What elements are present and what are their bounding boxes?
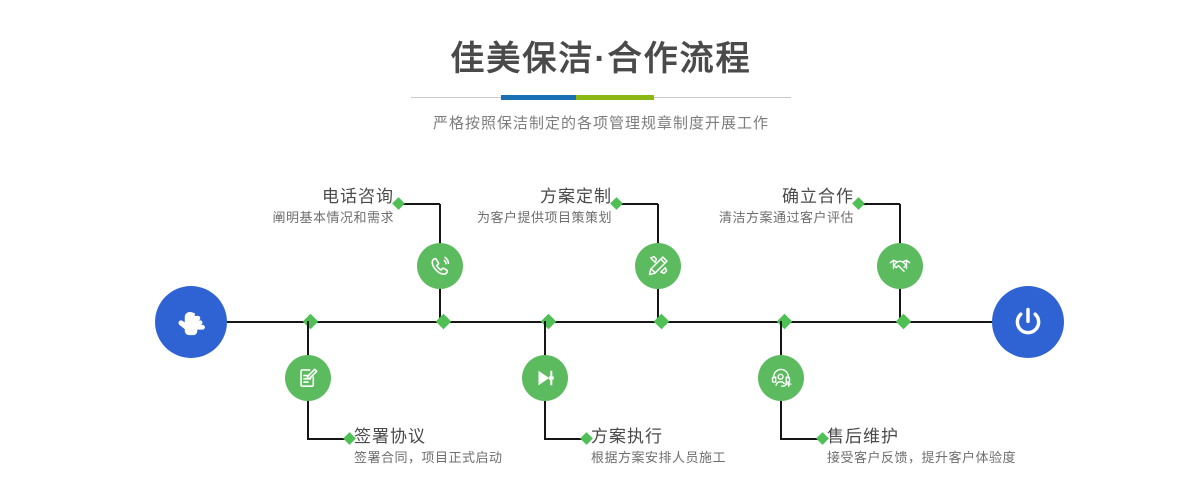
step-title: 确立合作 — [605, 186, 854, 208]
play-forward-icon — [532, 365, 558, 391]
timeline-start-endpoint — [155, 286, 227, 358]
step-icon-badge[interactable] — [417, 243, 463, 289]
axis-marker — [303, 314, 319, 330]
step-title: 电话咨询 — [149, 186, 394, 208]
handshake-icon — [887, 253, 913, 279]
step-title: 售后维护 — [827, 426, 1157, 448]
pencil-ruler-icon — [645, 253, 671, 279]
label-marker — [852, 197, 865, 210]
step-title: 方案定制 — [370, 186, 612, 208]
step-icon-badge[interactable] — [758, 355, 804, 401]
step-label: 电话咨询 阐明基本情况和需求 — [149, 186, 394, 228]
process-timeline: 电话咨询 阐明基本情况和需求 签署协议 签署合同，项目正式启动 — [0, 0, 1202, 502]
step-desc: 接受客户反馈，提升客户体验度 — [827, 448, 1157, 468]
step-desc: 阐明基本情况和需求 — [149, 208, 394, 228]
step-desc: 为客户提供项目策策划 — [370, 208, 612, 228]
step-label: 确立合作 清洁方案通过客户评估 — [605, 186, 854, 228]
step-icon-badge[interactable] — [877, 243, 923, 289]
step-label: 售后维护 接受客户反馈，提升客户体验度 — [827, 426, 1157, 468]
sign-document-icon — [295, 365, 321, 391]
step-icon-badge[interactable] — [285, 355, 331, 401]
timeline-end-endpoint — [992, 286, 1064, 358]
power-icon — [1008, 302, 1048, 342]
step-desc: 清洁方案通过客户评估 — [605, 208, 854, 228]
step-icon-badge[interactable] — [635, 243, 681, 289]
customer-service-add-icon — [768, 365, 794, 391]
pointing-hand-icon — [171, 302, 211, 342]
step-label: 方案定制 为客户提供项目策策划 — [370, 186, 612, 228]
phone-call-icon — [427, 253, 453, 279]
step-icon-badge[interactable] — [522, 355, 568, 401]
